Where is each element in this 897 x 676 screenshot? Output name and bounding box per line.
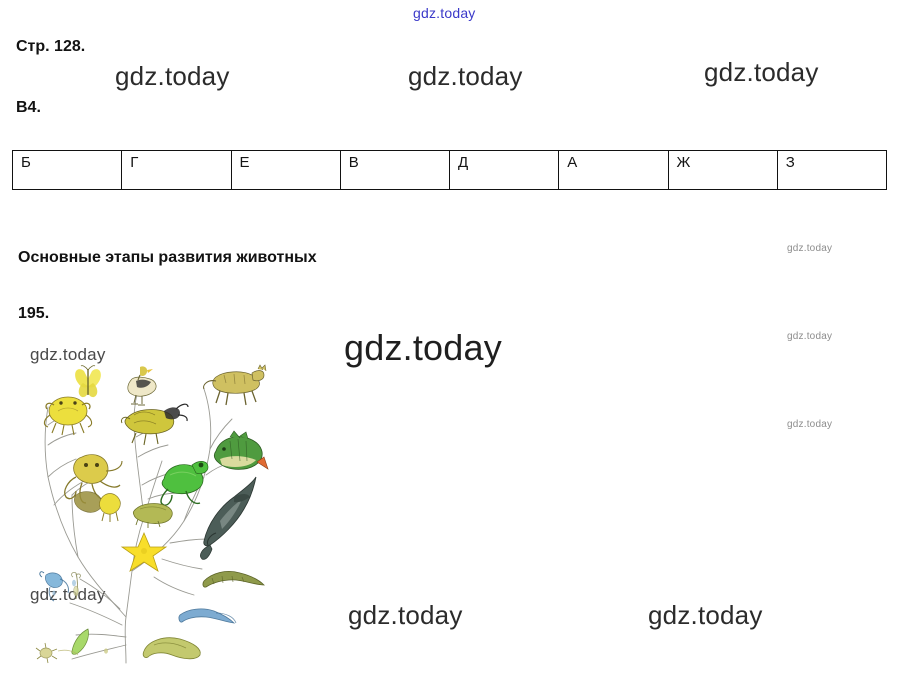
watermark-right-lower: gdz.today (787, 419, 832, 430)
page-number-label: Стр. 128. (16, 38, 85, 56)
answer-cell-8[interactable]: З (777, 151, 886, 190)
answer-cell-1[interactable]: Б (13, 151, 122, 190)
watermark-right-middle: gdz.today (787, 331, 832, 342)
butterfly-organism (75, 366, 101, 397)
hydra-organism (72, 572, 81, 599)
shark-organism (200, 477, 256, 559)
watermark-top-center: gdz.today (413, 5, 476, 21)
evolutionary-tree-figure (14, 345, 300, 665)
exercise-number-label: 195. (18, 305, 49, 323)
fish-organism (214, 431, 268, 469)
table-row: Б Г Е В Д А Ж З (13, 151, 887, 190)
bird-organism (128, 366, 156, 405)
watermark-row1-center: gdz.today (408, 61, 523, 92)
watermark-row1-left: gdz.today (115, 61, 230, 92)
evolutionary-tree-illustration (14, 345, 300, 665)
answer-cell-3[interactable]: Е (231, 151, 340, 190)
task-code-label: В4. (16, 99, 41, 117)
small-invertebrate-organism (99, 494, 120, 523)
starfish-organism (122, 533, 166, 571)
flatworm-organism (133, 504, 172, 528)
watermark-center-large: gdz.today (344, 327, 502, 369)
worm-organism-center (143, 638, 200, 659)
watermark-bottom-left: gdz.today (348, 600, 463, 631)
worksheet-page: gdz.today gdz.today gdz.today gdz.today … (0, 0, 897, 676)
insect-organism (121, 404, 188, 445)
green-organism (72, 629, 89, 654)
frog-organism (161, 461, 208, 505)
answer-cell-6[interactable]: А (559, 151, 668, 190)
watermark-bottom-right: gdz.today (648, 600, 763, 631)
crab-organism (44, 397, 91, 435)
annelid-worm-organism (203, 571, 264, 587)
answer-cell-7[interactable]: Ж (668, 151, 777, 190)
answer-table: Б Г Е В Д А Ж З (12, 150, 887, 190)
answer-cell-4[interactable]: В (340, 151, 449, 190)
section-heading: Основные этапы развития животных (18, 249, 317, 267)
watermark-right-upper: gdz.today (787, 243, 832, 254)
answer-cell-5[interactable]: Д (450, 151, 559, 190)
larva-organism-right (179, 609, 236, 623)
watermark-row1-right: gdz.today (704, 57, 819, 88)
answer-cell-2[interactable]: Г (122, 151, 231, 190)
mammal-organism (204, 365, 266, 405)
larva-organism-left (40, 572, 69, 601)
